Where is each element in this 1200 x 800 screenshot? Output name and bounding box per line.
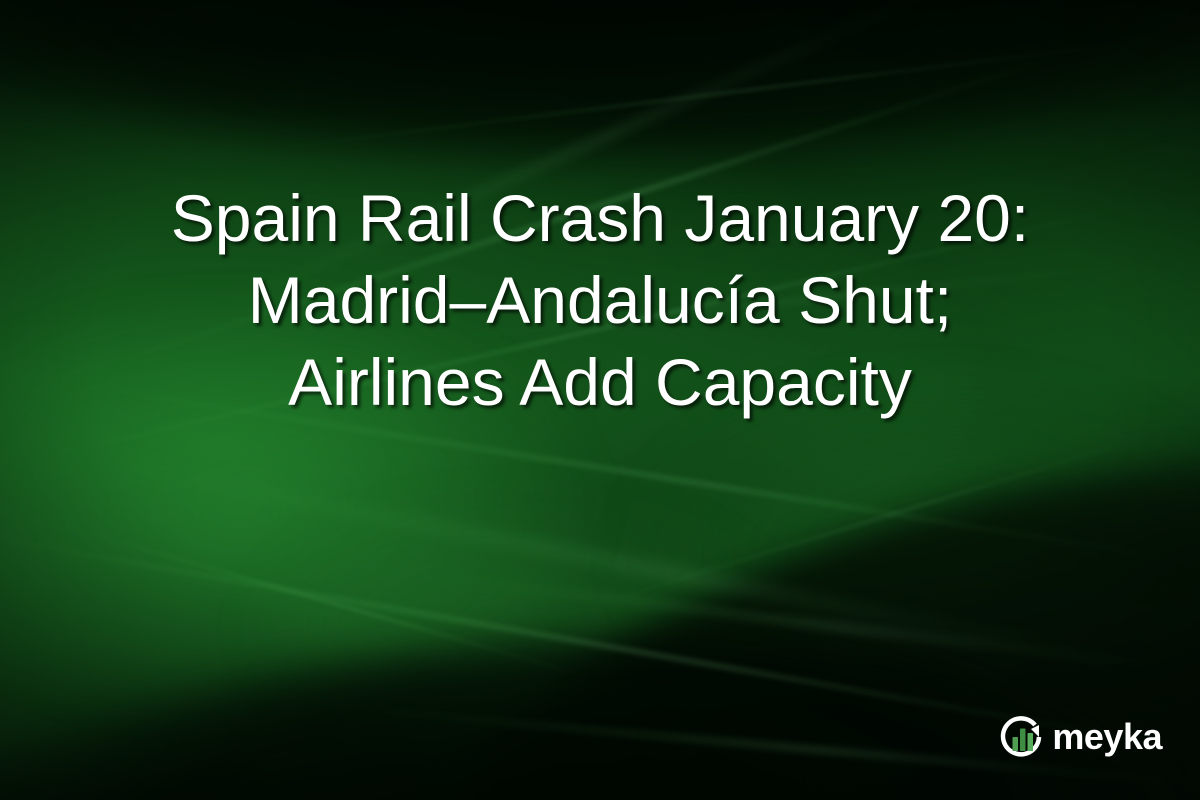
brand-lockup[interactable]: meyka (996, 712, 1162, 762)
headline-block: Spain Rail Crash January 20: Madrid–Anda… (0, 178, 1200, 423)
page-title: Spain Rail Crash January 20: Madrid–Anda… (60, 178, 1140, 423)
brand-name: meyka (1052, 719, 1162, 755)
meyka-logo-icon (996, 712, 1046, 762)
background-light-streak (535, 418, 1200, 625)
cover-image: Spain Rail Crash January 20: Madrid–Anda… (0, 0, 1200, 800)
background-light-streak (12, 510, 637, 691)
background-light-streak (204, 34, 1197, 158)
background-glow-right (620, 380, 1200, 740)
